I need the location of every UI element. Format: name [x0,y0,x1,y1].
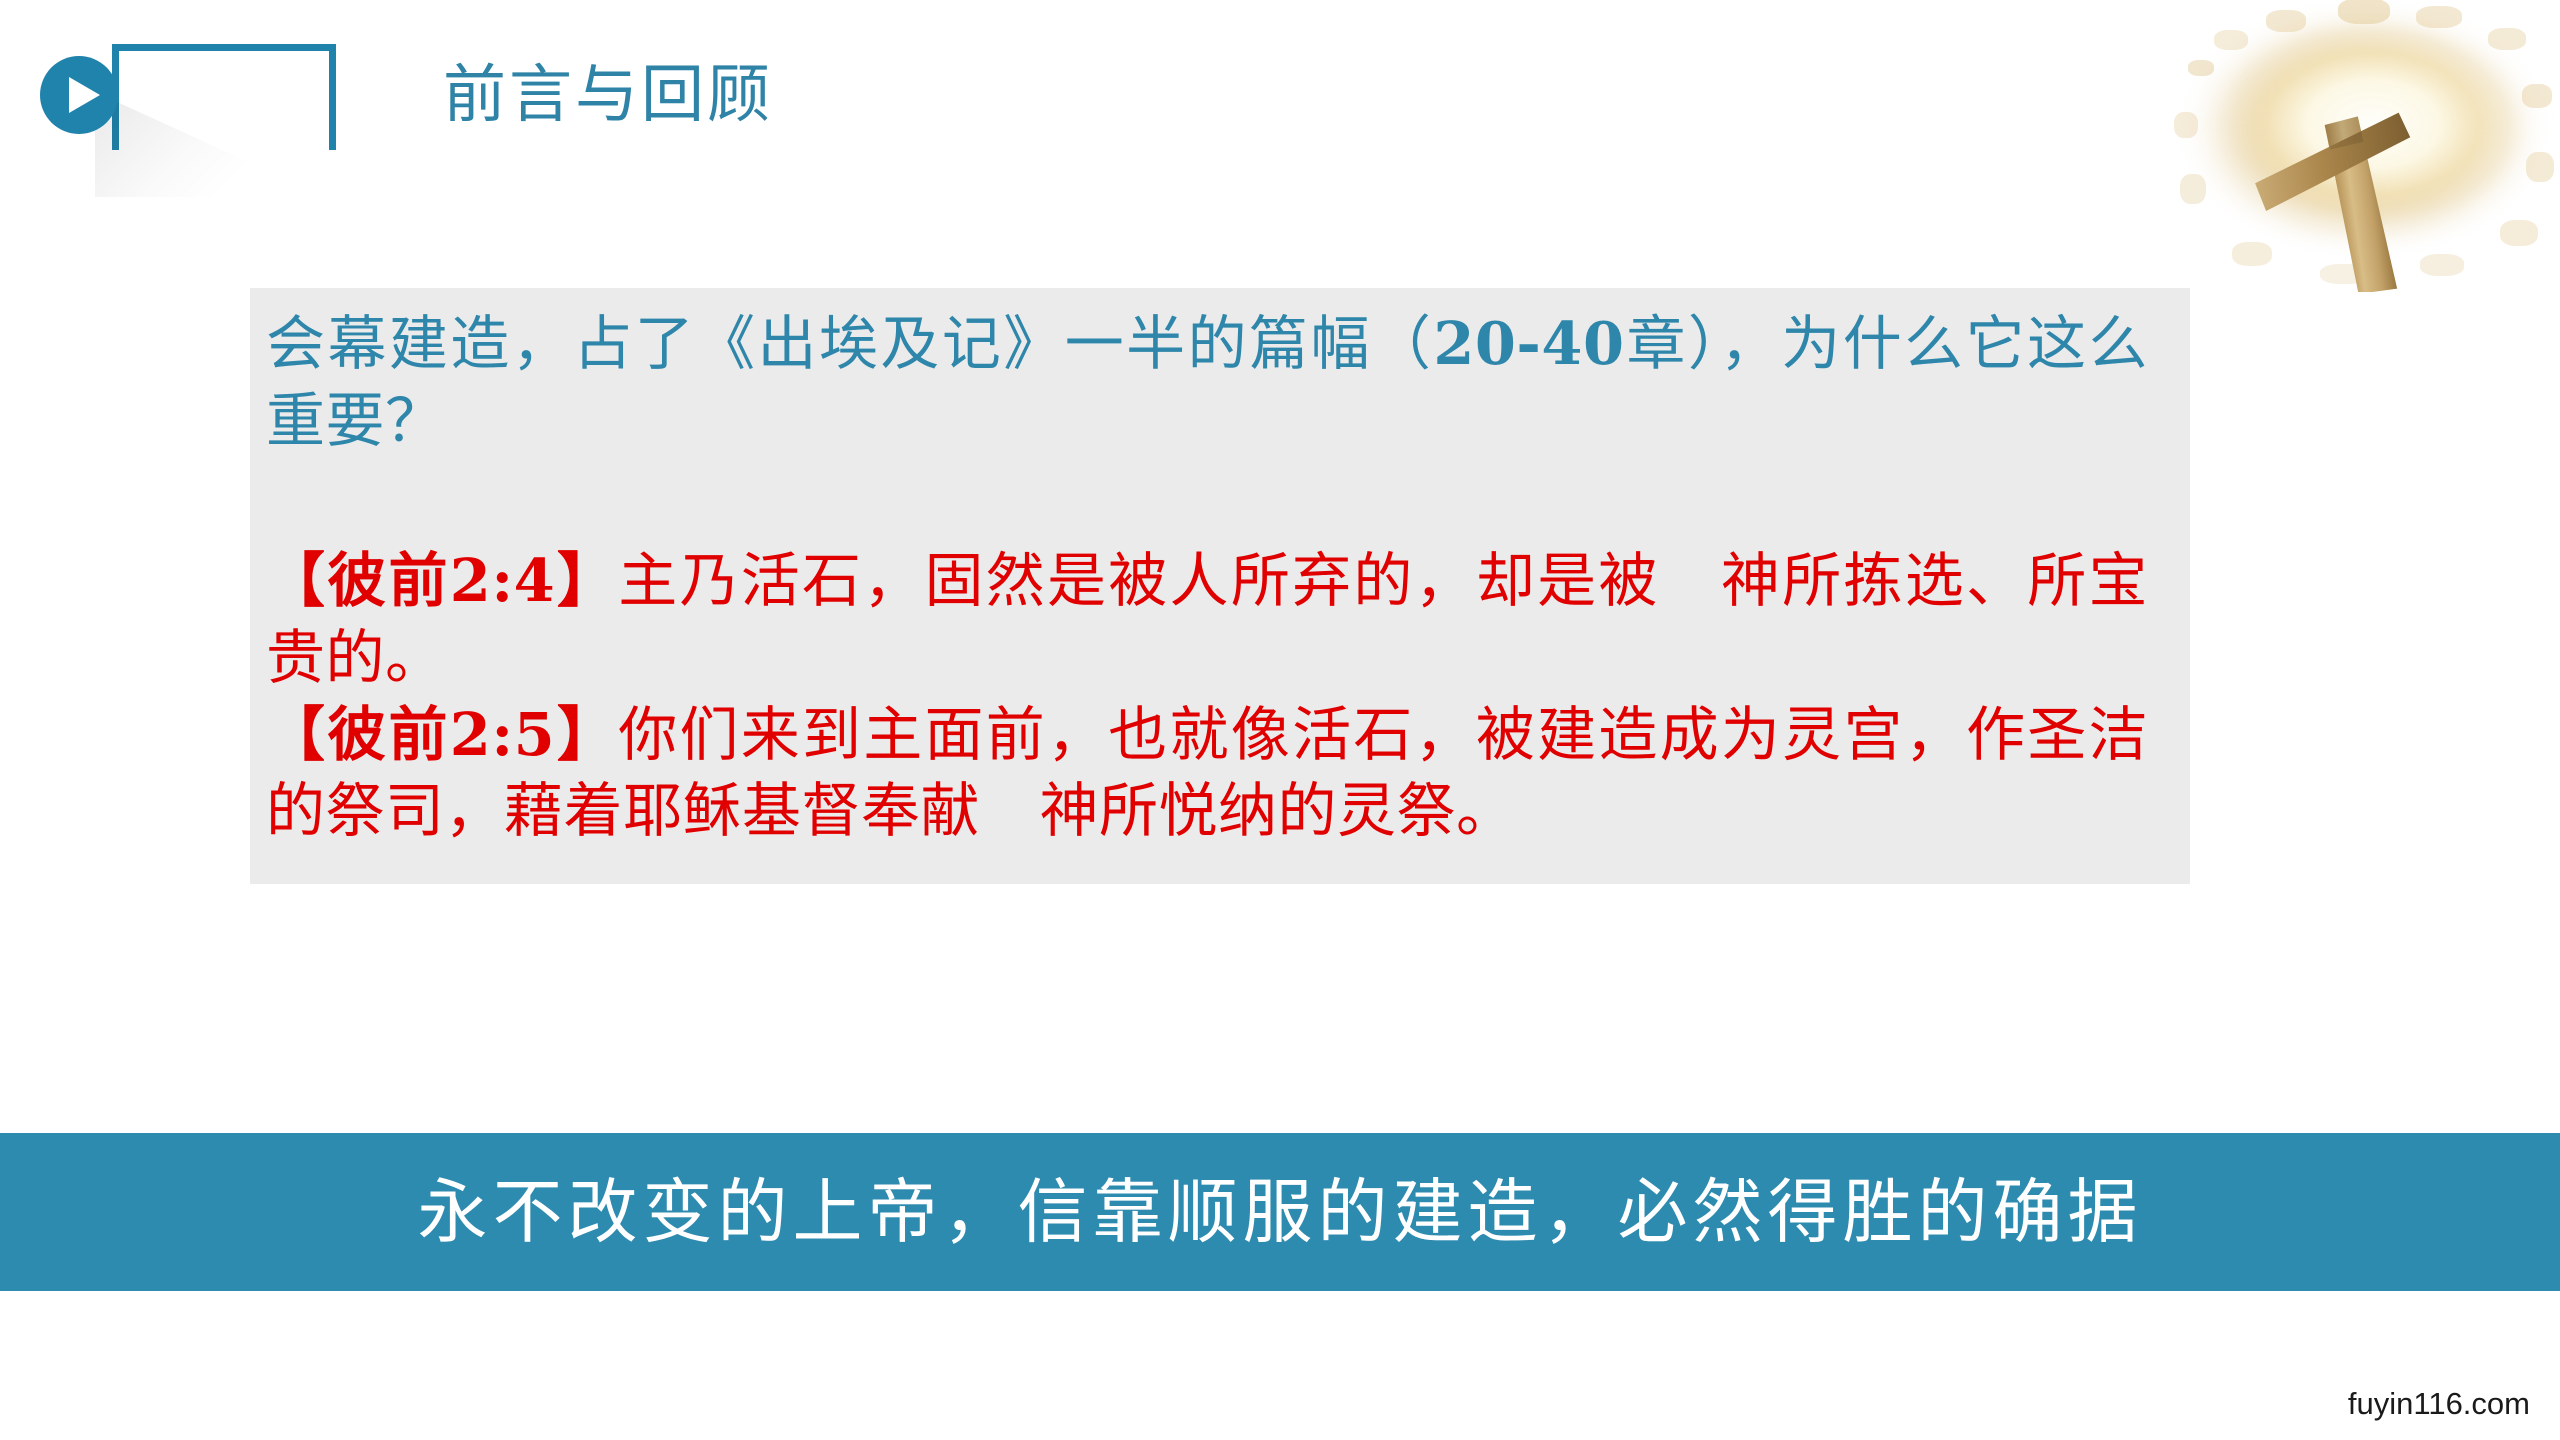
summary-banner: 永不改变的上帝，信靠顺服的建造，必然得胜的确据 [0,1133,2560,1291]
content-panel: 会幕建造，占了《出埃及记》一半的篇幅（20-40章），为什么它这么重要？ 【彼前… [250,288,2190,884]
verse-2-reference: 【彼前2:5】 [266,700,618,769]
cross-artwork [2170,0,2560,292]
play-circle-icon [40,56,118,134]
intro-chapter-range: 20-40 [1433,309,1624,378]
cross-icon [2170,0,2560,292]
summary-banner-text: 永不改变的上帝，信靠顺服的建造，必然得胜的确据 [418,1177,2143,1247]
paragraph-spacer [266,459,2148,543]
site-watermark: fuyin116.com [2348,1386,2530,1422]
page-title: 前言与回顾 [443,56,773,135]
verse-1-reference: 【彼前2:4】 [266,546,618,615]
play-triangle-icon [69,77,100,113]
golden-cloud-backdrop [2170,0,2560,292]
verse-2: 【彼前2:5】你们来到主面前，也就像活石，被建造成为灵宫，作圣洁的祭司，藉着耶稣… [266,697,2148,850]
intro-paragraph: 会幕建造，占了《出埃及记》一半的篇幅（20-40章），为什么它这么重要？ [266,306,2148,459]
slide-canvas: 前言与回顾 会幕建造，占了《出埃及记》一半的篇幅（20-40章），为什么它这么重… [0,0,2560,1440]
intro-lead: 会幕建造，占了《出埃及记》一半的篇幅（ [266,309,1433,378]
verse-1: 【彼前2:4】主乃活石，固然是被人所弃的，却是被 神所拣选、所宝贵的。 [266,543,2148,696]
